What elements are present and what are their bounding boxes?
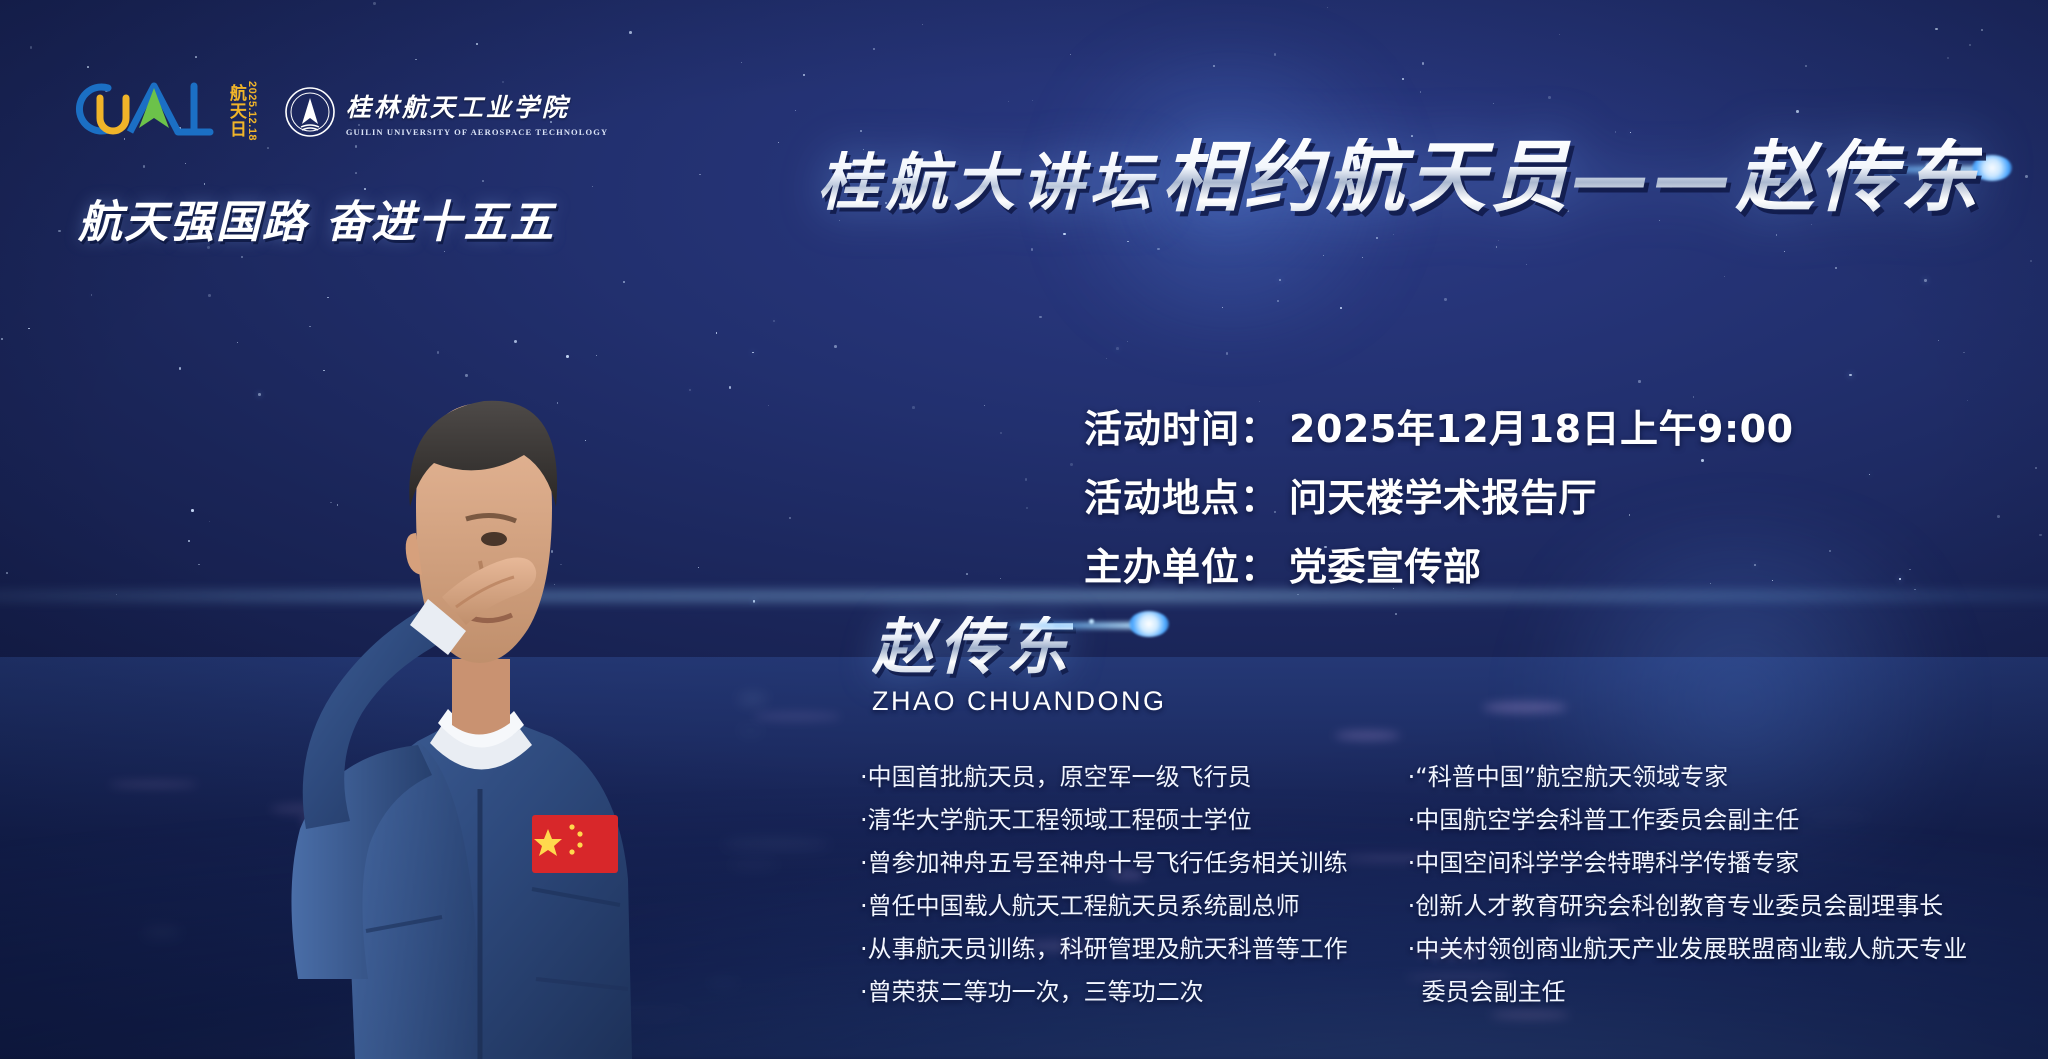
event-time-label: 活动时间：	[1084, 398, 1279, 453]
bio-item: ·曾任中国载人航天工程航天员系统副总师	[860, 891, 1348, 921]
event-organizer-value: 党委宣传部	[1289, 536, 1482, 591]
campaign-slogan: 航天强国路 奋进十五五	[78, 186, 555, 250]
space-day-date: 2025.12.18	[246, 81, 258, 141]
bio-column-left: ·中国首批航天员，原空军一级飞行员 ·清华大学航天工程领域工程硕士学位 ·曾参加…	[860, 762, 1348, 1007]
bio-item: ·曾荣获二等功一次，三等功二次	[860, 977, 1348, 1007]
title-block: 桂航大讲坛 相约航天员——赵传东	[818, 128, 1982, 220]
bio-item: ·曾参加神舟五号至神舟十号飞行任务相关训练	[860, 848, 1348, 878]
cuai-logo-icon	[70, 78, 220, 140]
university-names: 桂林航天工业学院 GUILIN UNIVERSITY OF AEROSPACE …	[346, 88, 608, 137]
event-info-row: 主办单位： 党委宣传部	[1084, 536, 1794, 591]
event-info-row: 活动地点： 问天楼学术报告厅	[1084, 467, 1794, 522]
bio-item: ·中关村领创商业航天产业发展联盟商业载人航天专业	[1408, 934, 1968, 964]
logo-row: 航天日 2025.12.18 桂林航天工业学院 GUILIN UNIVERSIT…	[70, 78, 608, 140]
speaker-name-en: ZHAO CHUANDONG	[872, 686, 1167, 717]
university-name-cn: 桂林航天工业学院	[346, 88, 608, 124]
university-seal-icon	[284, 86, 336, 138]
bio-item: ·创新人才教育研究会科创教育专业委员会副理事长	[1408, 891, 1968, 921]
event-time-value: 2025年12月18日上午9:00	[1289, 398, 1794, 453]
space-day-logo: 航天日 2025.12.18	[70, 78, 258, 140]
speaker-block: 赵传东 ZHAO CHUANDONG	[872, 616, 1167, 717]
poster-canvas: 航天日 2025.12.18 桂林航天工业学院 GUILIN UNIVERSIT…	[0, 0, 2048, 1059]
event-organizer-label: 主办单位：	[1084, 536, 1279, 591]
university-logo: 桂林航天工业学院 GUILIN UNIVERSITY OF AEROSPACE …	[284, 86, 608, 140]
title-line-1: 桂航大讲坛	[818, 150, 1158, 215]
bio-item: ·中国首批航天员，原空军一级飞行员	[860, 762, 1348, 792]
bio-item: 委员会副主任	[1408, 977, 1968, 1007]
bio-column-right: ·“科普中国”航空航天领域专家 ·中国航空学会科普工作委员会副主任 ·中国空间科…	[1408, 762, 1968, 1007]
event-location-value: 问天楼学术报告厅	[1289, 467, 1597, 522]
university-name-en: GUILIN UNIVERSITY OF AEROSPACE TECHNOLOG…	[346, 127, 608, 137]
bio-item: ·清华大学航天工程领域工程硕士学位	[860, 805, 1348, 835]
title-line-2: 相约航天员——赵传东	[1162, 138, 1982, 220]
space-day-badge: 航天日 2025.12.18	[226, 82, 258, 140]
astronaut-saluting-photo	[180, 189, 780, 1059]
event-info-list: 活动时间： 2025年12月18日上午9:00 活动地点： 问天楼学术报告厅 主…	[1084, 398, 1794, 591]
bio-item: ·中国空间科学学会特聘科学传播专家	[1408, 848, 1968, 878]
event-location-label: 活动地点：	[1084, 467, 1279, 522]
speaker-bio: ·中国首批航天员，原空军一级飞行员 ·清华大学航天工程领域工程硕士学位 ·曾参加…	[860, 762, 1967, 1007]
bio-item: ·从事航天员训练，科研管理及航天科普等工作	[860, 934, 1348, 964]
space-day-label: 航天日	[226, 84, 244, 138]
event-info-row: 活动时间： 2025年12月18日上午9:00	[1084, 398, 1794, 453]
bio-item: ·中国航空学会科普工作委员会副主任	[1408, 805, 1968, 835]
speaker-name-cn: 赵传东	[872, 616, 1073, 678]
bio-item: ·“科普中国”航空航天领域专家	[1408, 762, 1968, 792]
